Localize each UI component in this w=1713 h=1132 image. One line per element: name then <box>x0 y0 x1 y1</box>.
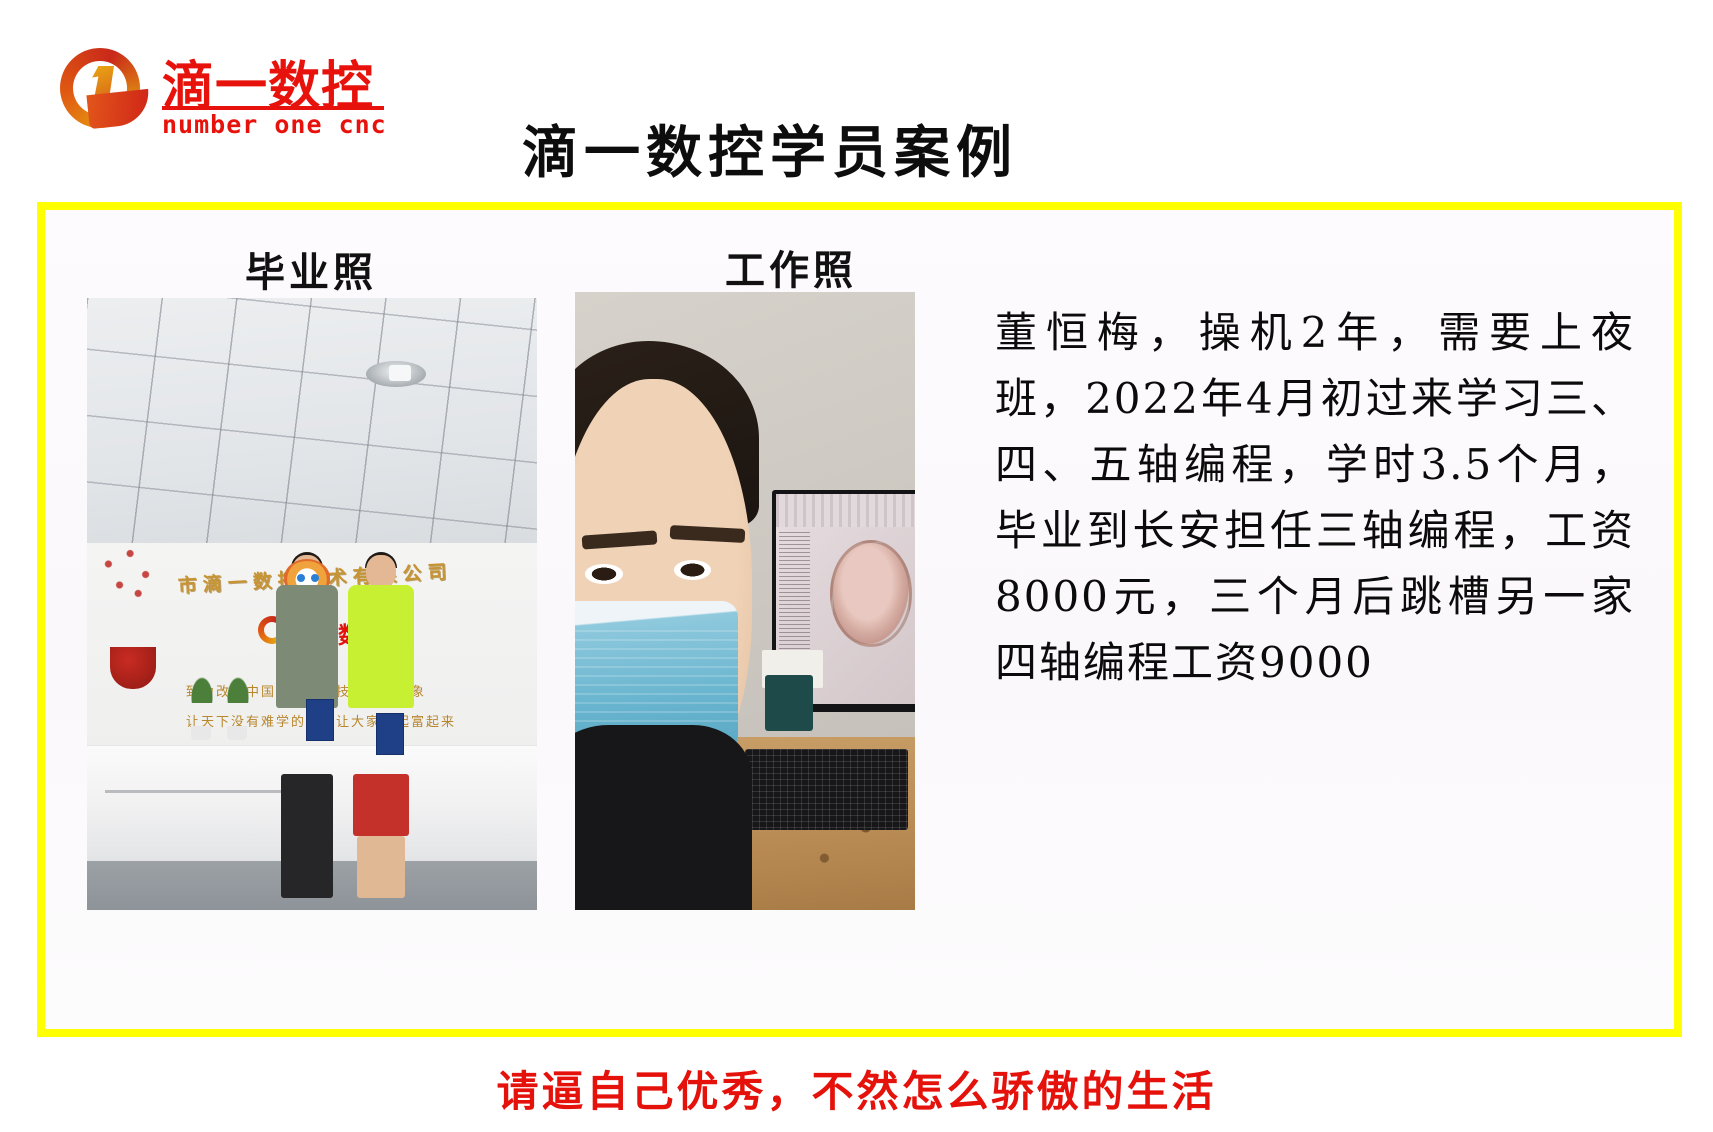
graduation-certificate <box>376 713 404 755</box>
person-shirt <box>276 585 338 708</box>
plant-pot-left <box>191 726 211 740</box>
potted-plant-left <box>191 677 213 703</box>
person-eye-left <box>585 564 622 584</box>
footer-slogan: 请逼自己优秀，不然怎么骄傲的生活 <box>0 1058 1713 1119</box>
student-story-text: 董恒梅，操机2年，需要上夜班，2022年4月初过来学习三、四、五轴编程，学时3.… <box>995 300 1635 696</box>
person-eye-right <box>674 560 711 580</box>
potted-plant-right <box>227 677 249 703</box>
graduation-certificate <box>306 699 334 741</box>
logo-swoosh-shape <box>86 89 151 129</box>
page-title: 滴一数控学员案例 <box>470 108 1070 189</box>
person-shirt <box>348 585 414 708</box>
brand-logo: 滴一数控 number one cnc <box>58 40 388 145</box>
cad-3d-part-model <box>830 540 912 647</box>
logo-english-name: number one cnc <box>162 110 387 139</box>
work-photo <box>575 292 915 910</box>
person-shorts <box>353 774 408 836</box>
ceiling-tiles <box>87 298 537 549</box>
graduation-photo: 市滴一数控技术有限公司 滴一数控 致力改变中国数控行业技能短缺现象 让天下没有难… <box>87 298 537 910</box>
content-card: 毕业照 工作照 市滴一数控技术有限公司 滴一数控 致力改变中国数控行业技能短缺现… <box>37 202 1682 1037</box>
ceiling-light-icon <box>366 361 426 387</box>
number-one-circle-icon <box>58 46 150 138</box>
cad-toolbar-ribbon <box>776 494 915 528</box>
graduation-photo-caption: 毕业照 <box>245 240 377 298</box>
person-head <box>366 555 396 589</box>
plum-branch-decoration <box>96 543 158 613</box>
keyboard <box>745 749 908 829</box>
person-torso <box>575 725 752 910</box>
graduate-person-right <box>348 555 414 898</box>
person-trousers <box>281 774 333 897</box>
desk-box <box>765 675 813 731</box>
person-legs <box>357 836 405 898</box>
plant-pot-right <box>227 726 247 740</box>
red-vase <box>110 647 156 689</box>
work-photo-caption: 工作照 <box>725 238 857 296</box>
graduate-person-left <box>276 555 338 898</box>
